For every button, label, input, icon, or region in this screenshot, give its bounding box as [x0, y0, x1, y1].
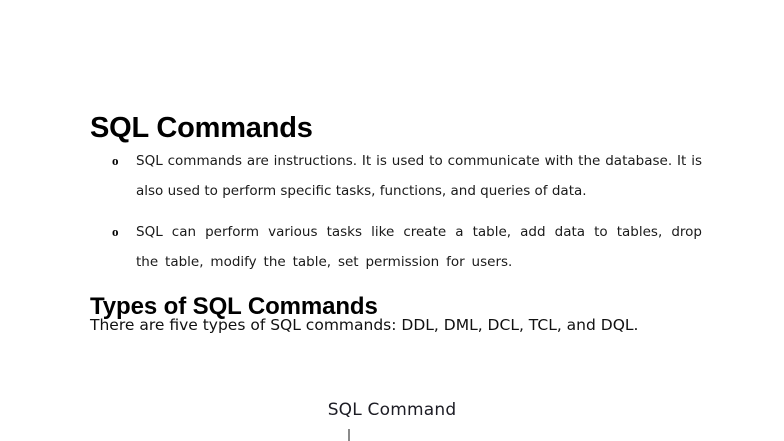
list-item-text: SQL commands are instructions. It is use… [136, 146, 702, 206]
document-page: SQL Commands o SQL commands are instruct… [0, 0, 784, 441]
sql-commands-bullet-list: o SQL commands are instructions. It is u… [90, 146, 702, 277]
list-item: o SQL can perform various tasks like cre… [90, 217, 702, 277]
bullet-marker-icon: o [112, 146, 119, 176]
sql-command-diagram: SQL Command [0, 388, 784, 441]
list-item-text: SQL can perform various tasks like creat… [136, 217, 702, 277]
page-title: SQL Commands [90, 112, 313, 145]
lead-paragraph: There are five types of SQL commands: DD… [90, 313, 710, 337]
diagram-connector-line [348, 429, 350, 441]
bullet-marker-icon: o [112, 217, 119, 247]
diagram-root-label: SQL Command [0, 400, 784, 420]
list-item: o SQL commands are instructions. It is u… [90, 146, 702, 206]
